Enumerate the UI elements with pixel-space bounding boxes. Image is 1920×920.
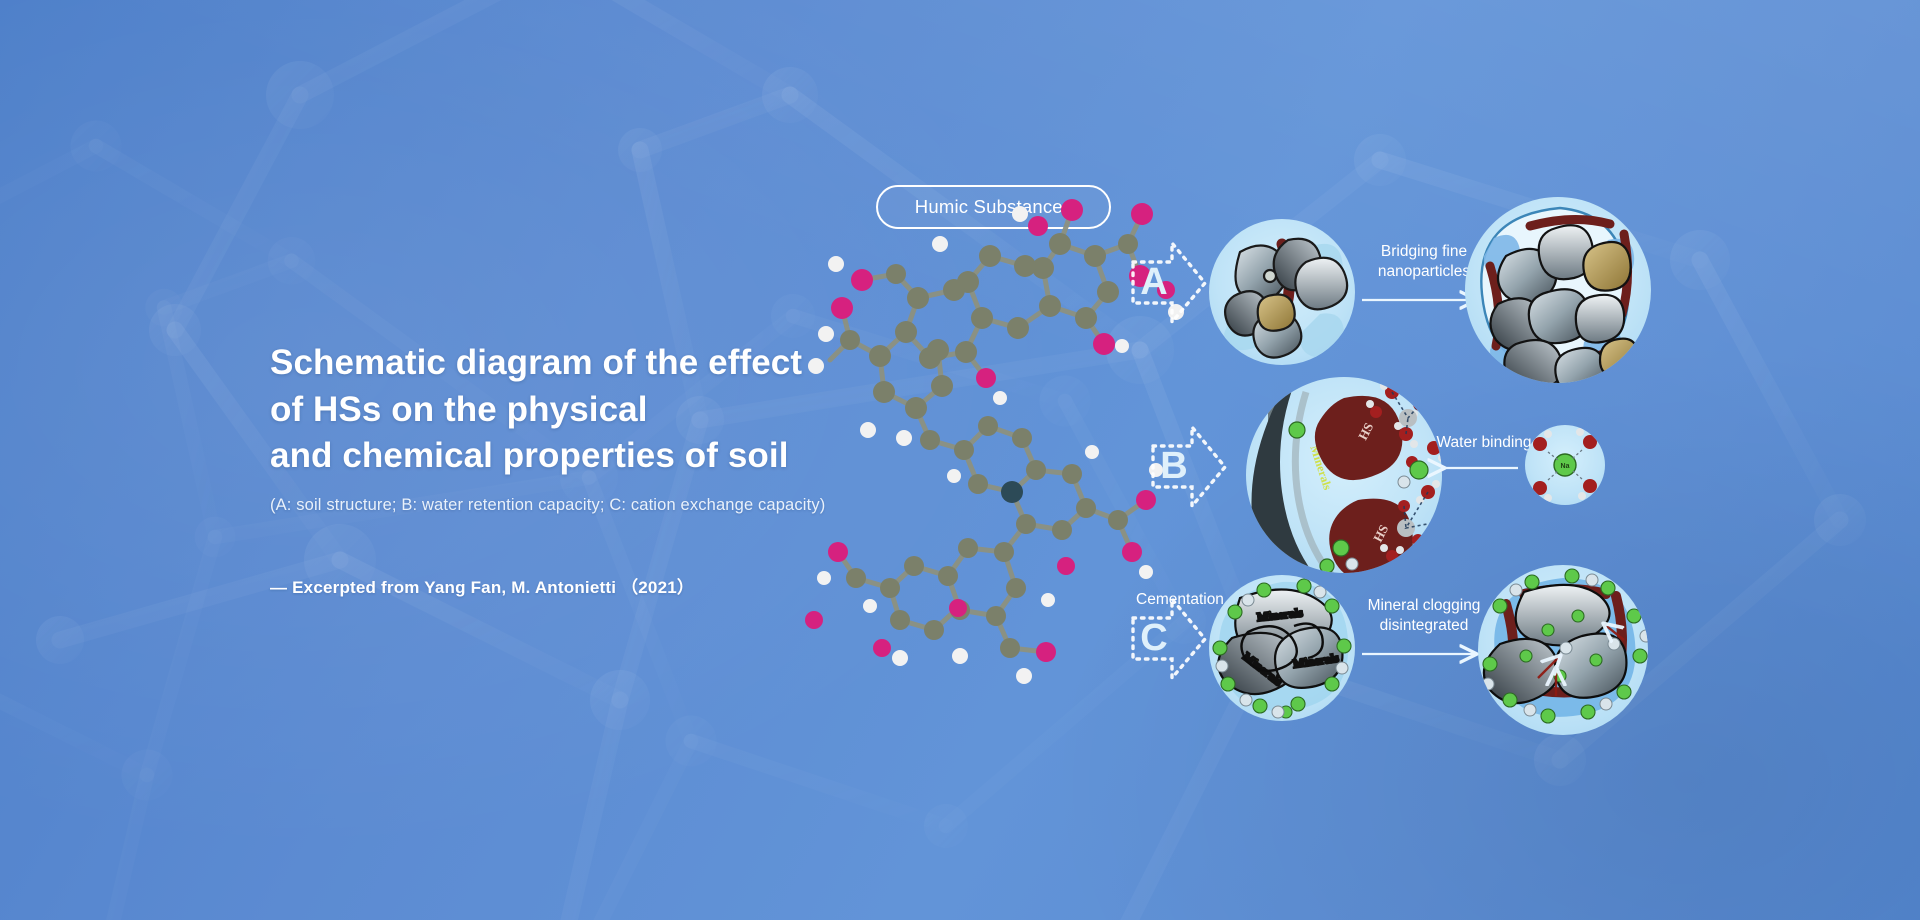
page-title: Schematic diagram of the effect of HSs o…: [270, 340, 910, 480]
step-c-letter: C: [1140, 617, 1167, 659]
step-a-group: A: [1133, 197, 1651, 393]
step-b-start-circle[interactable]: [1246, 377, 1442, 573]
water-molecules: [1366, 378, 1458, 562]
humic-substances-chip-label: Humic Substances: [915, 196, 1072, 218]
title-line-3: and chemical properties of soil: [270, 433, 910, 480]
sodium-ion-label: Na: [1561, 463, 1570, 470]
step-c-pre-label: Cementation: [1136, 591, 1224, 608]
attribution-line: — Excerpted from Yang Fan, M. Antonietti…: [270, 573, 910, 598]
title-line-1: Schematic diagram of the effect: [270, 340, 910, 387]
step-c-exchanging-cations: [1482, 569, 1652, 723]
step-c-transition-label-line1: Mineral clogging: [1368, 597, 1481, 614]
subtitle-legend: (A: soil structure; B: water retention c…: [270, 496, 910, 515]
step-c-minerals-label-3: Minerals: [1292, 651, 1340, 671]
step-b-letter: B: [1160, 445, 1187, 487]
hydrated-cations: [1289, 422, 1454, 573]
title-line-2: of HSs on the physical: [270, 387, 910, 434]
step-c-group: Cementation C Minerals Minerals Minerals: [1133, 565, 1652, 735]
step-b-minerals-label: Minerals: [1307, 444, 1335, 492]
step-a-transition-label-line2: nanoparticles: [1378, 263, 1470, 280]
humic-substances-chip[interactable]: Humic Substances: [876, 185, 1111, 229]
step-c-minerals-label-1: Minerals: [1256, 605, 1304, 624]
step-c-arrow[interactable]: C: [1133, 599, 1205, 678]
step-b-arrow[interactable]: B: [1153, 427, 1225, 506]
step-c-transition-label-line2: disintegrated: [1380, 617, 1469, 634]
headline-block: Schematic diagram of the effect of HSs o…: [270, 340, 910, 598]
step-b-transition-label: Water binding: [1436, 434, 1531, 451]
step-a-transition-label-line1: Bridging fine: [1381, 243, 1467, 260]
step-b-hs-label-1: HS: [1355, 420, 1376, 442]
step-c-surface-cations: [1213, 579, 1351, 718]
step-a-end-circle[interactable]: [1465, 197, 1651, 383]
step-a-end-contents: [1481, 208, 1638, 393]
step-c-end-circle[interactable]: [1478, 565, 1648, 735]
step-b-hs-label-2: HS: [1370, 522, 1391, 544]
step-c-minerals-label-2: Minerals: [1240, 649, 1285, 689]
step-c-start-contents: Minerals Minerals Minerals: [1213, 579, 1351, 718]
step-b-end-contents: Na: [1526, 428, 1604, 502]
step-c-start-circle[interactable]: [1209, 575, 1355, 721]
step-b-group: B Minerals HS HS: [1153, 366, 1605, 590]
step-a-start-circle[interactable]: [1209, 219, 1355, 365]
step-a-letter: A: [1140, 261, 1167, 303]
water-molecules-hydration-shell: [1526, 428, 1604, 502]
step-c-end-contents: [1482, 569, 1652, 723]
step-b-start-contents: Minerals HS HS: [1252, 366, 1459, 590]
poster-canvas: Schematic diagram of the effect of HSs o…: [0, 0, 1920, 920]
step-a-arrow[interactable]: A: [1133, 243, 1205, 322]
step-a-start-contents: [1224, 239, 1347, 358]
step-b-end-circle[interactable]: [1525, 425, 1605, 505]
